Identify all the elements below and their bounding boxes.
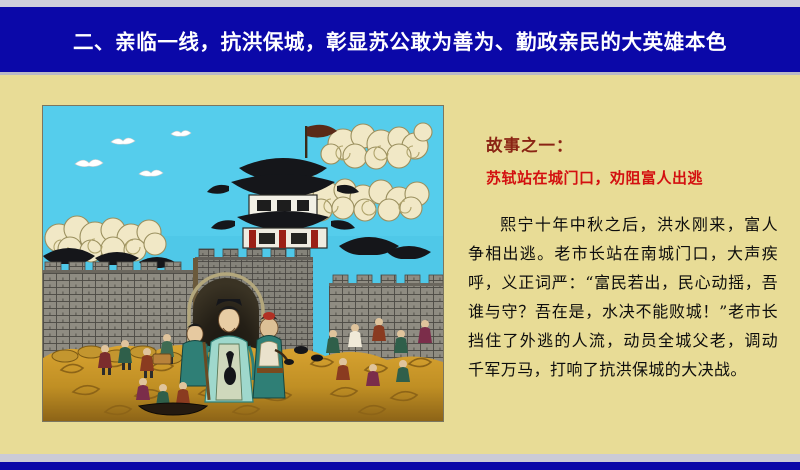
illustration-image [43, 106, 443, 421]
title-bar-underline [0, 72, 800, 75]
story-subheading: 苏轼站在城门口，劝阻富人出逃 [486, 167, 778, 188]
bottom-border-strip [0, 454, 800, 462]
slide-title-bar: 二、亲临一线，抗洪保城，彰显苏公敢为善为、勤政亲民的大英雄本色 [0, 7, 800, 72]
page-title: 二、亲临一线，抗洪保城，彰显苏公敢为善为、勤政亲民的大英雄本色 [73, 25, 727, 55]
story-body-text: 熙宁十年中秋之后，洪水刚来，富人争相出逃。老市长站在南城门口，大声疾呼，义正词严… [468, 210, 778, 384]
painting-svg [43, 106, 443, 421]
bottom-accent-strip [0, 462, 800, 470]
top-border-strip [0, 0, 800, 7]
story-heading: 故事之一： [486, 132, 778, 156]
story-text-column: 故事之一： 苏轼站在城门口，劝阻富人出逃 熙宁十年中秋之后，洪水刚来，富人争相出… [468, 132, 778, 384]
slide-canvas: 二、亲临一线，抗洪保城，彰显苏公敢为善为、勤政亲民的大英雄本色 [0, 0, 800, 470]
